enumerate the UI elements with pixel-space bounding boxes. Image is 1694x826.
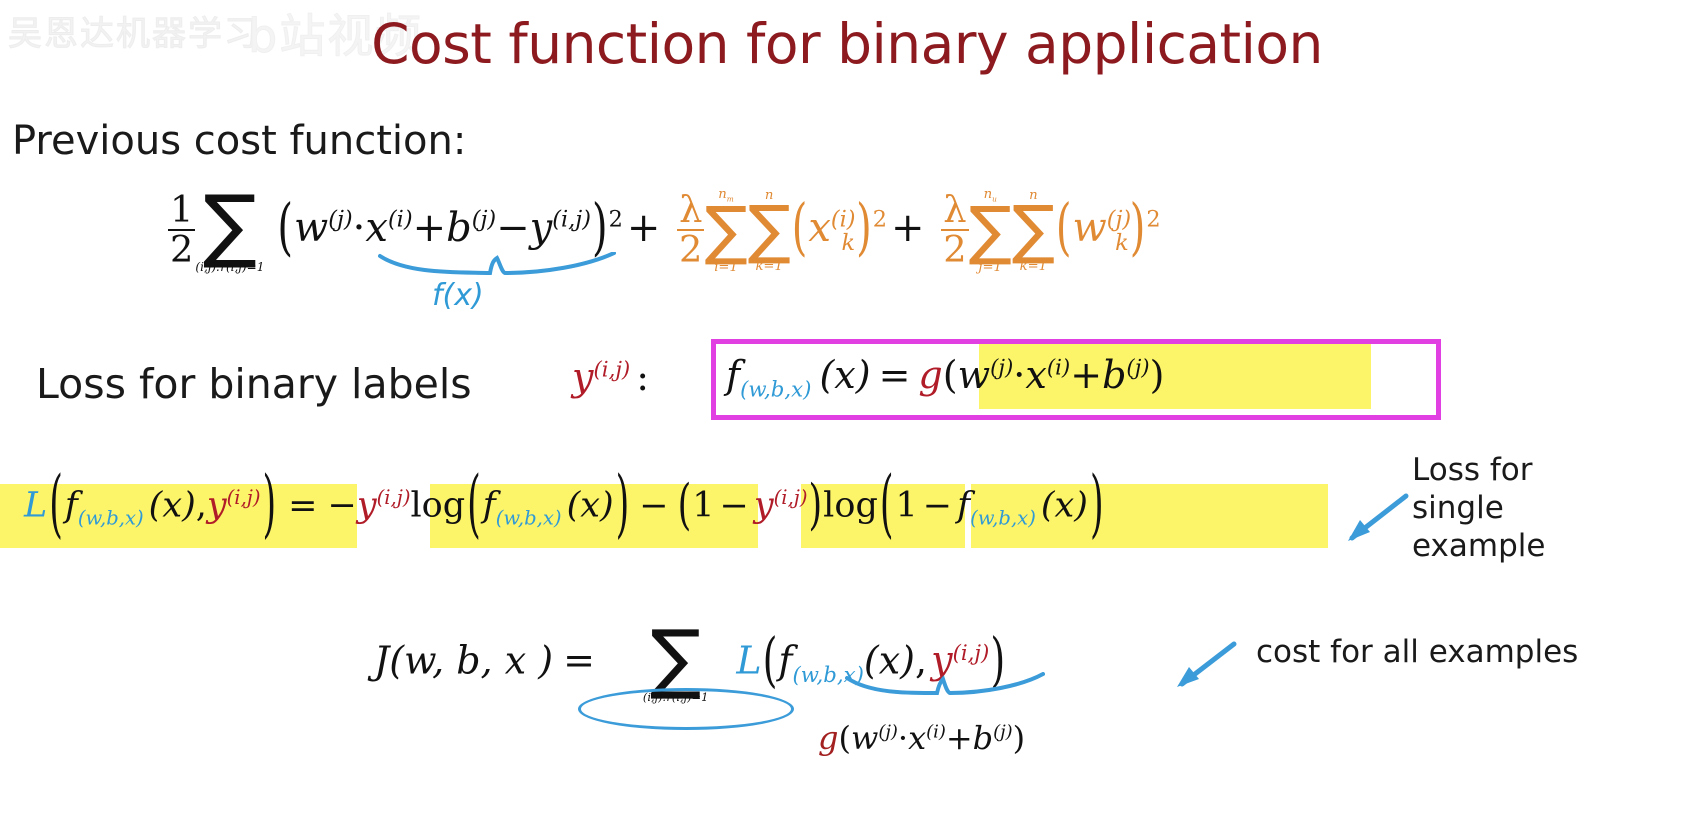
slide-canvas: 吴恩达机器学习 b站视频 Cost function for binary ap… [0,0,1694,826]
equation-g-expansion: g(w(j)·x(i)+b(j)) [818,722,1025,754]
previous-cost-heading: Previous cost function: [12,118,466,164]
regularization-term-x: λ2nm∑i=1n∑k=1(x(i)k)2 [677,205,887,251]
annotation-line-2: single [1412,490,1545,528]
arrow-to-cost-icon [1168,640,1238,690]
sum-subscript-circle-annotation [578,688,794,730]
annotation-fx-label: f(x) [432,278,484,313]
summation-symbol: n∑k=1 [1012,189,1055,273]
summation-symbol: ∑(i,j):r(i,j)=1 [195,189,264,273]
summation-symbol: nu∑j=1 [969,188,1012,274]
brace-annotation-fx-icon [378,252,616,278]
brace-annotation-cost-icon [845,672,1045,698]
y-label-binary: y(i,j): [572,358,649,396]
annotation-loss-single-example: Loss for single example [1412,452,1545,565]
equation-binary-model: f(w,b,x)(x)=g(w(j)·x(i)+b(j)) [726,356,1164,401]
equation-previous-cost: 1 2 ∑(i,j):r(i,j)=1(w(j)·x(i)+b(j)−y(i,j… [168,188,1161,274]
equation-loss-single-example: L(f(w,b,x)(x),y(i,j))=−y(i,j)log(f(w,b,x… [24,488,1106,528]
summation-symbol: n∑k=1 [748,189,791,273]
loss-binary-labels-heading: Loss for binary labels [36,360,472,408]
arrow-to-loss-icon [1340,492,1410,544]
annotation-cost-all-examples: cost for all examples [1256,634,1578,670]
annotation-line-1: Loss for [1412,452,1545,490]
annotation-line-3: example [1412,528,1545,566]
page-title: Cost function for binary application [0,12,1694,76]
one-half-fraction: 1 2 [168,191,195,268]
summation-symbol: nm∑i=1 [704,188,747,274]
regularization-term-w: λ2nu∑j=1n∑k=1(w(j)k)2 [941,205,1160,251]
